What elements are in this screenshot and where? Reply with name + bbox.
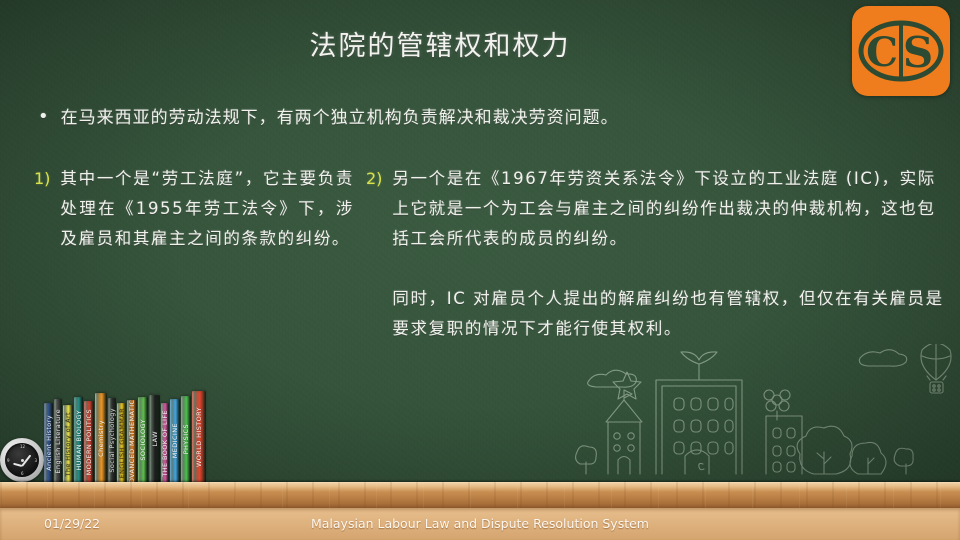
chalk-doodles: [570, 344, 960, 494]
book-title: Social Psychology: [108, 408, 116, 473]
book-title: LAW: [151, 431, 159, 447]
cs-logo: C S: [852, 6, 950, 96]
book-spine: English Literature: [54, 399, 62, 483]
book-title: PHYSICS: [182, 424, 190, 454]
star-doodle: [613, 372, 641, 399]
book-spine: Chemistry: [95, 393, 107, 483]
book-title: SOCIOLOGY: [139, 419, 147, 461]
clock-tick-12: 12: [20, 444, 25, 449]
book-title: WORLD HISTORY: [195, 407, 203, 467]
footer-title: Malaysian Labour Law and Dispute Resolut…: [0, 516, 960, 531]
numbered-item-1: 1) 其中一个是“劳工法庭”，它主要负责处理在《1955年劳工法令》下，涉及雇员…: [34, 164, 354, 254]
book-spine: MODERN POLITICS: [84, 401, 94, 483]
item-2-paragraph-1: 另一个是在《1967年劳资关系法令》下设立的工业法庭 (IC)，实际上它就是一个…: [392, 169, 935, 248]
item-2-body: 另一个是在《1967年劳资关系法令》下设立的工业法庭 (IC)，实际上它就是一个…: [392, 164, 952, 344]
cloud-doodle: [588, 370, 637, 387]
footer-bar: 01/29/22 Malaysian Labour Law and Disput…: [0, 508, 960, 540]
castle-tower-doodle: [606, 390, 642, 474]
page-title: 法院的管辖权和权力: [120, 24, 760, 63]
book-title: HUMAN BIOLOGY: [75, 410, 83, 471]
item-1-marker: 1): [34, 164, 50, 194]
book-title: THE BOOK OF LIFE: [161, 410, 169, 477]
tall-building-doodle: [766, 416, 802, 474]
clock-tick-6: 6: [21, 471, 24, 476]
book-title: English Literature: [54, 409, 62, 474]
clock-hour-hand: [13, 463, 22, 467]
book-spine: Social Psychology: [108, 398, 116, 483]
book-title: ADVANCED MATHEMATICS: [128, 400, 136, 483]
book-title: MEDICINE: [171, 423, 179, 458]
clock-face: 12 3 6 9: [5, 443, 39, 477]
logo-letter-s: S: [903, 28, 933, 77]
book-spine: ADVANCED MATHEMATICS: [127, 400, 137, 483]
book-title: MODERN POLITICS: [85, 409, 93, 475]
book-spine: SOCIOLOGY: [138, 397, 148, 483]
wall-clock: 12 3 6 9: [0, 438, 44, 482]
numbered-item-2: 2) 另一个是在《1967年劳资关系法令》下设立的工业法庭 (IC)，实际上它就…: [366, 164, 952, 344]
bullet-marker: •: [38, 104, 49, 130]
book-spine: LAW: [149, 395, 160, 483]
book-spine: PHYSICS: [181, 396, 191, 483]
footer-date: 01/29/22: [44, 516, 100, 531]
shelf-scene: 12 3 6 9 Ancient HistoryEnglish Literatu…: [0, 390, 960, 540]
wooden-shelf: [0, 482, 960, 510]
book-spine: The History of Art: [63, 405, 73, 483]
intro-bullet: • 在马来西亚的劳动法规下，有两个独立机构负责解决和裁决劳资问题。: [38, 104, 928, 132]
logo-letter-c: C: [866, 29, 898, 76]
book-spine: WORLD HISTORY: [192, 391, 206, 483]
book-title: ENGLISH GRAMMAR: [118, 408, 126, 479]
item-1-text: 其中一个是“劳工法庭”，它主要负责处理在《1955年劳工法令》下，涉及雇员和其雇…: [60, 164, 354, 254]
item-2-paragraph-2: 同时，IC 对雇员个人提出的解雇纠纷也有管辖权，但仅在有关雇员是要求复职的情况下…: [392, 284, 952, 344]
flower-doodle: [764, 390, 790, 420]
book-spine: HUMAN BIOLOGY: [74, 397, 83, 483]
clock-center-pin: [21, 459, 24, 462]
tree-doodle: [797, 426, 852, 474]
clock-minute-hand: [21, 454, 31, 466]
book-title: Chemistry: [97, 420, 105, 457]
clock-tick-3: 3: [34, 458, 37, 463]
slide-canvas: C S 法院的管辖权和权力 • 在马来西亚的劳动法规下，有两个独立机构负责解决和…: [0, 0, 960, 540]
book-spine: ENGLISH GRAMMAR: [117, 403, 126, 483]
book-spine: THE BOOK OF LIFE: [161, 403, 169, 483]
shelf-grain: [0, 482, 960, 510]
item-2-marker: 2): [366, 164, 382, 194]
book-row: Ancient HistoryEnglish LiteratureThe His…: [44, 393, 206, 483]
intro-bullet-text: 在马来西亚的劳动法规下，有两个独立机构负责解决和裁决劳资问题。: [61, 104, 619, 132]
book-spine: MEDICINE: [170, 399, 180, 483]
book-title: Ancient History: [45, 415, 53, 471]
book-spine: Ancient History: [44, 403, 53, 483]
book-title: The History of Art: [64, 412, 72, 477]
hot-air-balloon-doodle: [921, 344, 951, 393]
clock-tick-9: 9: [7, 458, 10, 463]
building-doodle: [656, 352, 742, 474]
